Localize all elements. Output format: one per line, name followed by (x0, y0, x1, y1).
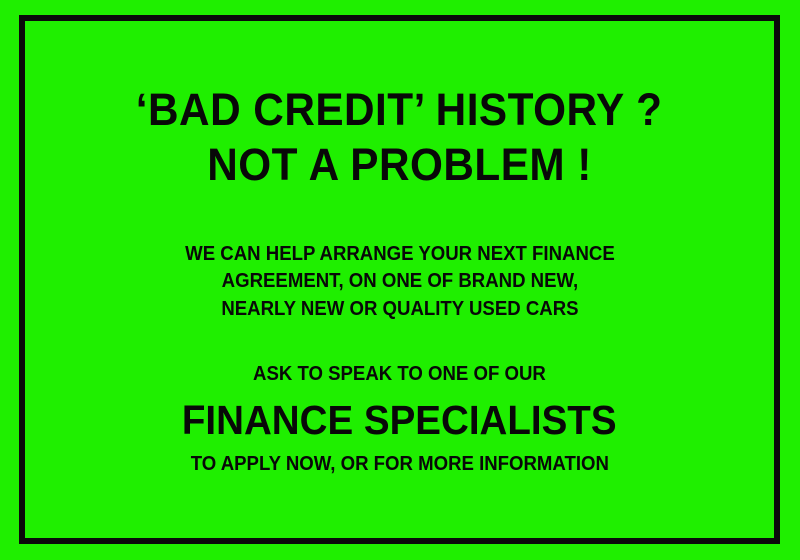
body-paragraph-services: WE CAN HELP ARRANGE YOUR NEXT FINANCE AG… (169, 241, 631, 324)
headline-line-2: NOT A PROBLEM ! (207, 142, 592, 188)
body-line-3: NEARLY NEW OR QUALITY USED CARS (185, 296, 615, 324)
body-line-1: WE CAN HELP ARRANGE YOUR NEXT FINANCE (185, 241, 615, 269)
body-line-2: AGREEMENT, ON ONE OF BRAND NEW, (185, 268, 615, 296)
poster-content: ‘BAD CREDIT’ HISTORY ? NOT A PROBLEM ! W… (19, 15, 780, 544)
ask-to-speak-line: ASK TO SPEAK TO ONE OF OUR (253, 361, 546, 389)
finance-specialists-heading: FINANCE SPECIALISTS (182, 399, 617, 442)
body-paragraph-call-to-action: ASK TO SPEAK TO ONE OF OUR (242, 361, 557, 389)
apply-now-line: TO APPLY NOW, OR FOR MORE INFORMATION (190, 451, 608, 477)
advertisement-poster: ‘BAD CREDIT’ HISTORY ? NOT A PROBLEM ! W… (0, 0, 800, 560)
headline-line-1: ‘BAD CREDIT’ HISTORY ? (136, 87, 663, 133)
